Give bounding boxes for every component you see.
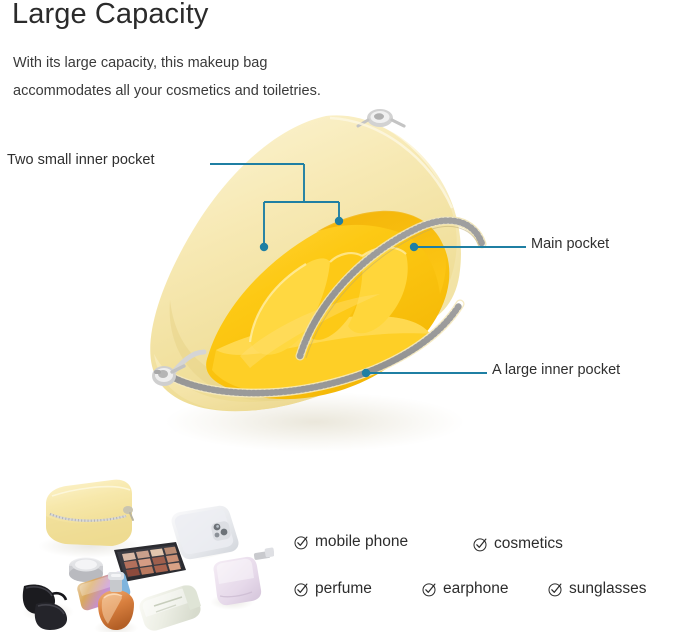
flatlay-sunglasses (22, 584, 74, 630)
feature-label: cosmetics (494, 535, 563, 553)
circled-check-icon (294, 535, 309, 550)
feature-item-sunglasses: sunglasses (548, 580, 647, 598)
feature-label: perfume (315, 580, 372, 598)
feature-label: sunglasses (569, 580, 647, 598)
flatlay-mobile-phone (171, 506, 240, 562)
flatlay-spray-bottle (210, 547, 274, 610)
flatlay-makeup-bag (46, 480, 133, 546)
callout-label-a-large-inner-pocket: A large inner pocket (492, 362, 620, 378)
infographic-canvas: Large Capacity With its large capacity, … (0, 0, 679, 634)
page-description-line-2: accommodates all your cosmetics and toil… (13, 83, 321, 99)
product-hero-image (130, 104, 490, 454)
feature-item-perfume: perfume (294, 580, 372, 598)
feature-item-mobile-phone: mobile phone (294, 533, 408, 551)
feature-item-earphone: earphone (422, 580, 509, 598)
feature-label: earphone (443, 580, 509, 598)
page-description-line-1: With its large capacity, this makeup bag (13, 55, 267, 71)
callout-label-two-small-inner-pocket: Two small inner pocket (7, 152, 154, 168)
product-flatlay-image (18, 466, 274, 632)
circled-check-icon (473, 537, 488, 552)
callout-label-main-pocket: Main pocket (531, 236, 609, 252)
page-title: Large Capacity (12, 0, 208, 31)
circled-check-icon (422, 582, 437, 597)
flatlay-cream-tube (139, 585, 201, 630)
feature-label: mobile phone (315, 533, 408, 551)
circled-check-icon (294, 582, 309, 597)
feature-item-cosmetics: cosmetics (473, 535, 563, 553)
circled-check-icon (548, 582, 563, 597)
